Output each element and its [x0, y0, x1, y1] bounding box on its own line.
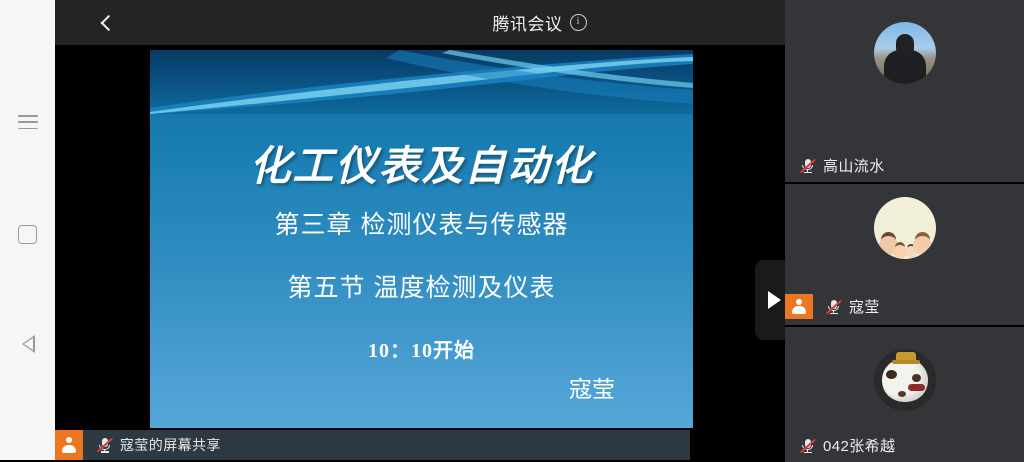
- shared-screen-stage[interactable]: 化工仪表及自动化 第三章 检测仪表与传感器 第五节 温度检测及仪表 10：10开…: [55, 45, 785, 460]
- home-button[interactable]: [0, 212, 55, 256]
- avatar: [874, 349, 936, 411]
- mic-muted-icon: [96, 437, 113, 454]
- back-button[interactable]: [0, 322, 55, 366]
- slide-header-band: [150, 50, 693, 114]
- slide-title: 化工仪表及自动化: [150, 132, 693, 192]
- participants-panel[interactable]: 高山流水 寇莹: [785, 0, 1024, 460]
- app-screen: 腾讯会议 化工: [0, 0, 1024, 460]
- android-nav-strip: [0, 0, 55, 460]
- screen-share-status-bar: 寇莹的屏幕共享: [55, 430, 690, 460]
- participant-label: 042张希越: [785, 435, 1024, 456]
- info-circle-icon[interactable]: [570, 14, 587, 31]
- page-title: 腾讯会议: [493, 10, 563, 35]
- back-triangle-icon: [20, 335, 36, 353]
- slide-author: 寇莹: [569, 370, 615, 404]
- participant-name: 高山流水: [823, 155, 885, 176]
- play-triangle-icon: [768, 291, 781, 309]
- screen-share-label: 寇莹的屏幕共享: [120, 435, 221, 455]
- home-icon: [18, 225, 37, 244]
- recents-button[interactable]: [0, 100, 55, 144]
- recents-icon: [18, 115, 38, 129]
- slide-start-time: 10：10开始: [150, 334, 693, 363]
- avatar: [874, 197, 936, 259]
- participant-name: 寇莹: [849, 296, 880, 317]
- slide-wave-graphic: [150, 50, 693, 114]
- host-badge: [785, 294, 813, 319]
- mic-muted-icon: [799, 157, 816, 174]
- slide-chapter: 第三章 检测仪表与传感器: [150, 205, 693, 241]
- mic-muted-icon: [825, 298, 842, 315]
- slide-section: 第五节 温度检测及仪表: [150, 268, 693, 304]
- participant-name: 042张希越: [823, 435, 895, 456]
- avatar: [874, 22, 936, 84]
- person-icon: [792, 299, 807, 315]
- participant-tile[interactable]: 寇莹: [785, 184, 1024, 325]
- participant-label: 高山流水: [785, 155, 1024, 176]
- person-icon: [62, 437, 77, 453]
- participant-tile[interactable]: 042张希越: [785, 327, 1024, 462]
- mic-muted-icon: [799, 437, 816, 454]
- participant-label: 寇莹: [785, 294, 1024, 319]
- presentation-slide: 化工仪表及自动化 第三章 检测仪表与传感器 第五节 温度检测及仪表 10：10开…: [150, 50, 693, 428]
- panel-collapse-handle[interactable]: [755, 260, 785, 340]
- host-badge: [55, 430, 83, 460]
- participant-tile[interactable]: 高山流水: [785, 0, 1024, 182]
